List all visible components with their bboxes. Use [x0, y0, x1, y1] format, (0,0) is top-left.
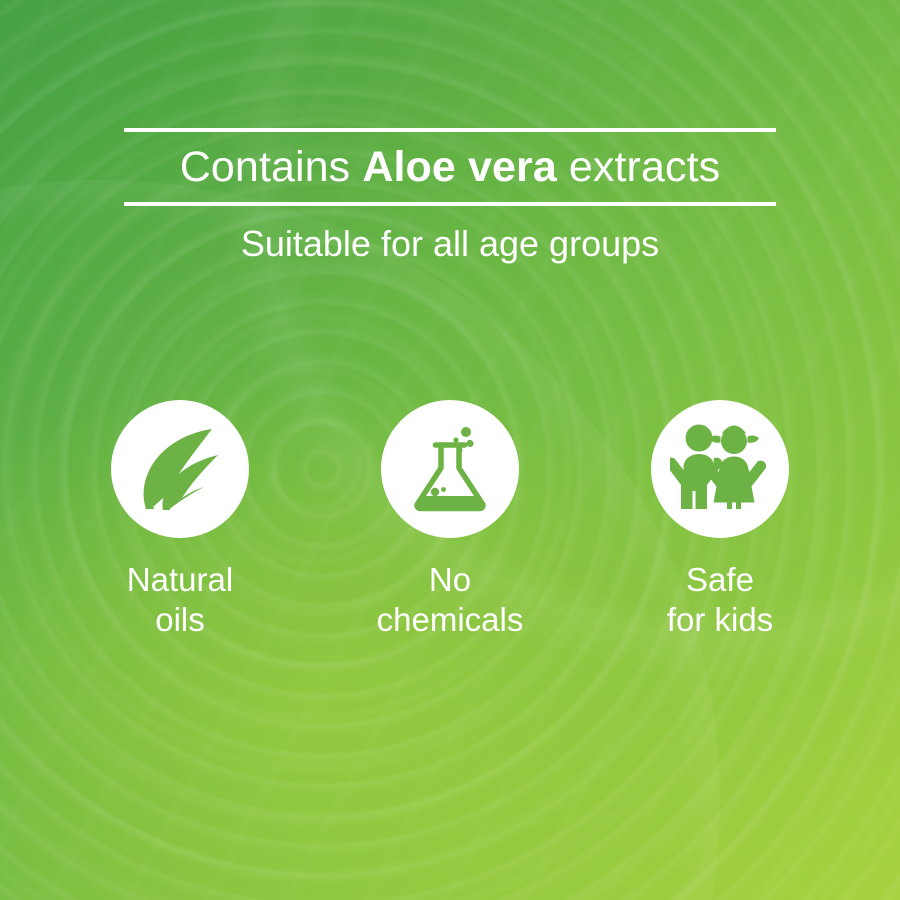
headline-suffix: extracts [557, 143, 720, 191]
feature-safe-for-kids: Safe for kids [596, 400, 844, 640]
feature-no-chemicals: No chemicals [326, 400, 574, 640]
feature-label-no-chemicals: No chemicals [377, 560, 524, 640]
flask-icon [404, 423, 496, 515]
feature-list: Natural oils [0, 400, 900, 640]
headline-rule-bottom [124, 202, 776, 206]
subtitle: Suitable for all age groups [0, 218, 900, 270]
feature-label-safe-for-kids: Safe for kids [667, 560, 773, 640]
badge-safe-for-kids [651, 400, 789, 538]
children-icon [670, 423, 770, 515]
promo-banner: Contains Aloe vera extracts Suitable for… [0, 0, 900, 900]
banner-content: Contains Aloe vera extracts Suitable for… [0, 0, 900, 900]
badge-no-chemicals [381, 400, 519, 538]
badge-natural-oils [111, 400, 249, 538]
headline-prefix: Contains [180, 143, 363, 191]
headline-emphasis: Aloe vera [362, 143, 557, 191]
leaf-icon [132, 421, 228, 517]
page-title: Contains Aloe vera extracts [124, 132, 776, 202]
headline-block: Contains Aloe vera extracts [124, 128, 776, 206]
feature-natural-oils: Natural oils [56, 400, 304, 640]
feature-label-natural-oils: Natural oils [127, 560, 233, 640]
